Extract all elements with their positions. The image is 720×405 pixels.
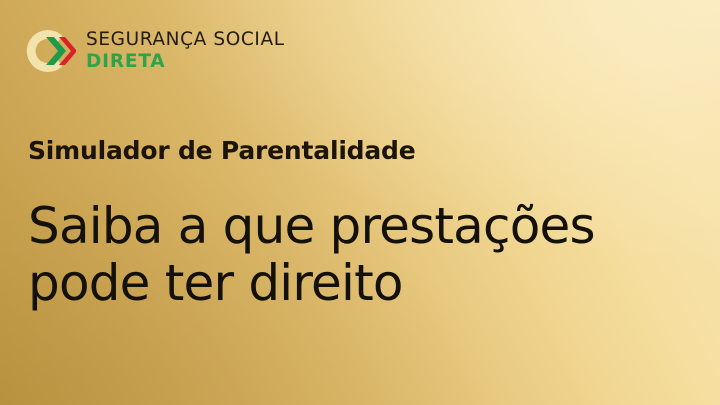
- brand-name-primary: SEGURANÇA SOCIAL: [86, 31, 285, 50]
- slide-headline: Saiba a que prestações pode ter direito: [28, 198, 595, 312]
- brand-name-accent: DIRETA: [86, 53, 285, 72]
- brand-logo-lockup[interactable]: SEGURANÇA SOCIAL DIRETA: [26, 26, 285, 76]
- headline-line-2: pode ter direito: [28, 255, 595, 312]
- seguranca-social-ring-chevrons-logo: [26, 26, 76, 76]
- circle-ring-icon: [27, 30, 62, 72]
- headline-line-1: Saiba a que prestações: [28, 198, 595, 255]
- slide-subtitle: Simulador de Parentalidade: [28, 136, 416, 165]
- slide-background: SEGURANÇA SOCIAL DIRETA Simulador de Par…: [0, 0, 720, 405]
- brand-wordmark: SEGURANÇA SOCIAL DIRETA: [86, 31, 285, 72]
- slide-content: SEGURANÇA SOCIAL DIRETA Simulador de Par…: [0, 0, 720, 405]
